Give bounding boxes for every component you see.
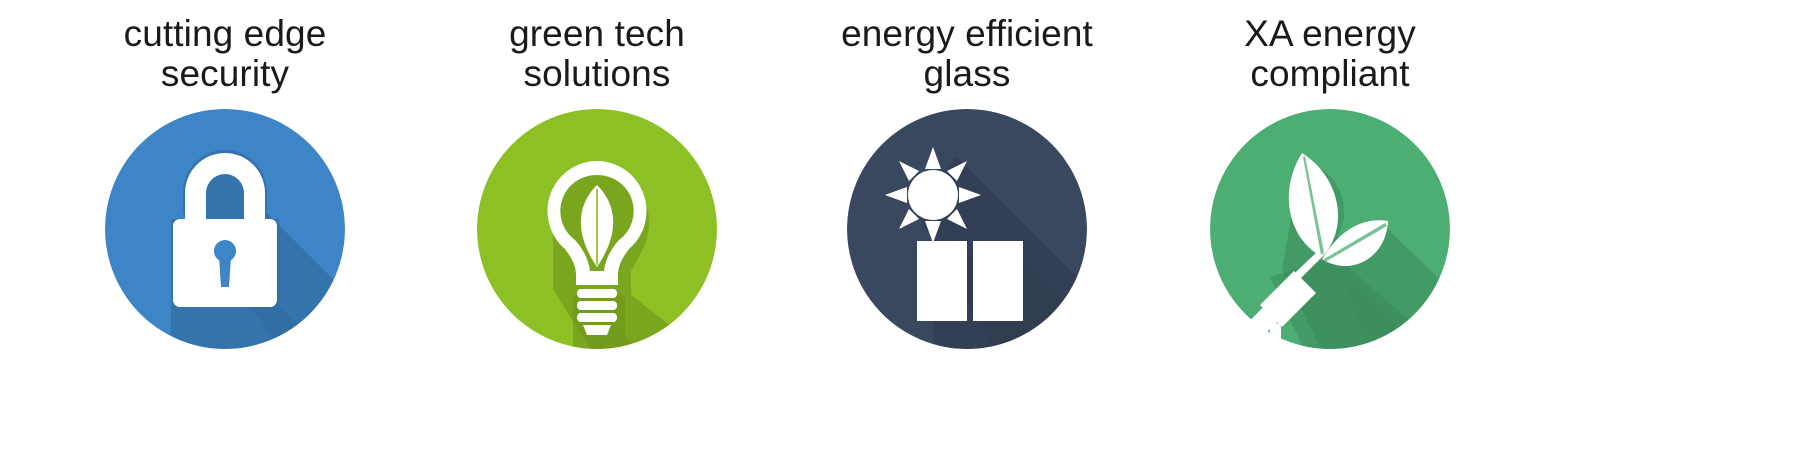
sun-window-icon xyxy=(847,109,1087,349)
padlock-icon xyxy=(105,109,345,349)
lightbulb-leaf-icon xyxy=(477,109,717,349)
leaf-plug-icon xyxy=(1210,109,1450,349)
feature-label: XA energy compliant xyxy=(1130,14,1530,93)
feature-label: cutting edge security xyxy=(25,14,425,93)
feature-badge-row: cutting edge security xyxy=(0,0,1800,450)
feature-xa-energy-compliant[interactable]: XA energy compliant xyxy=(1105,0,1555,450)
feature-label: green tech solutions xyxy=(397,14,797,93)
lightbulb-leaf-icon-badge[interactable] xyxy=(477,109,717,349)
leaf-plug-icon-badge[interactable] xyxy=(1210,109,1450,349)
sun-glyph xyxy=(885,147,981,243)
sun-window-icon-badge[interactable] xyxy=(847,109,1087,349)
padlock-icon-badge[interactable] xyxy=(105,109,345,349)
